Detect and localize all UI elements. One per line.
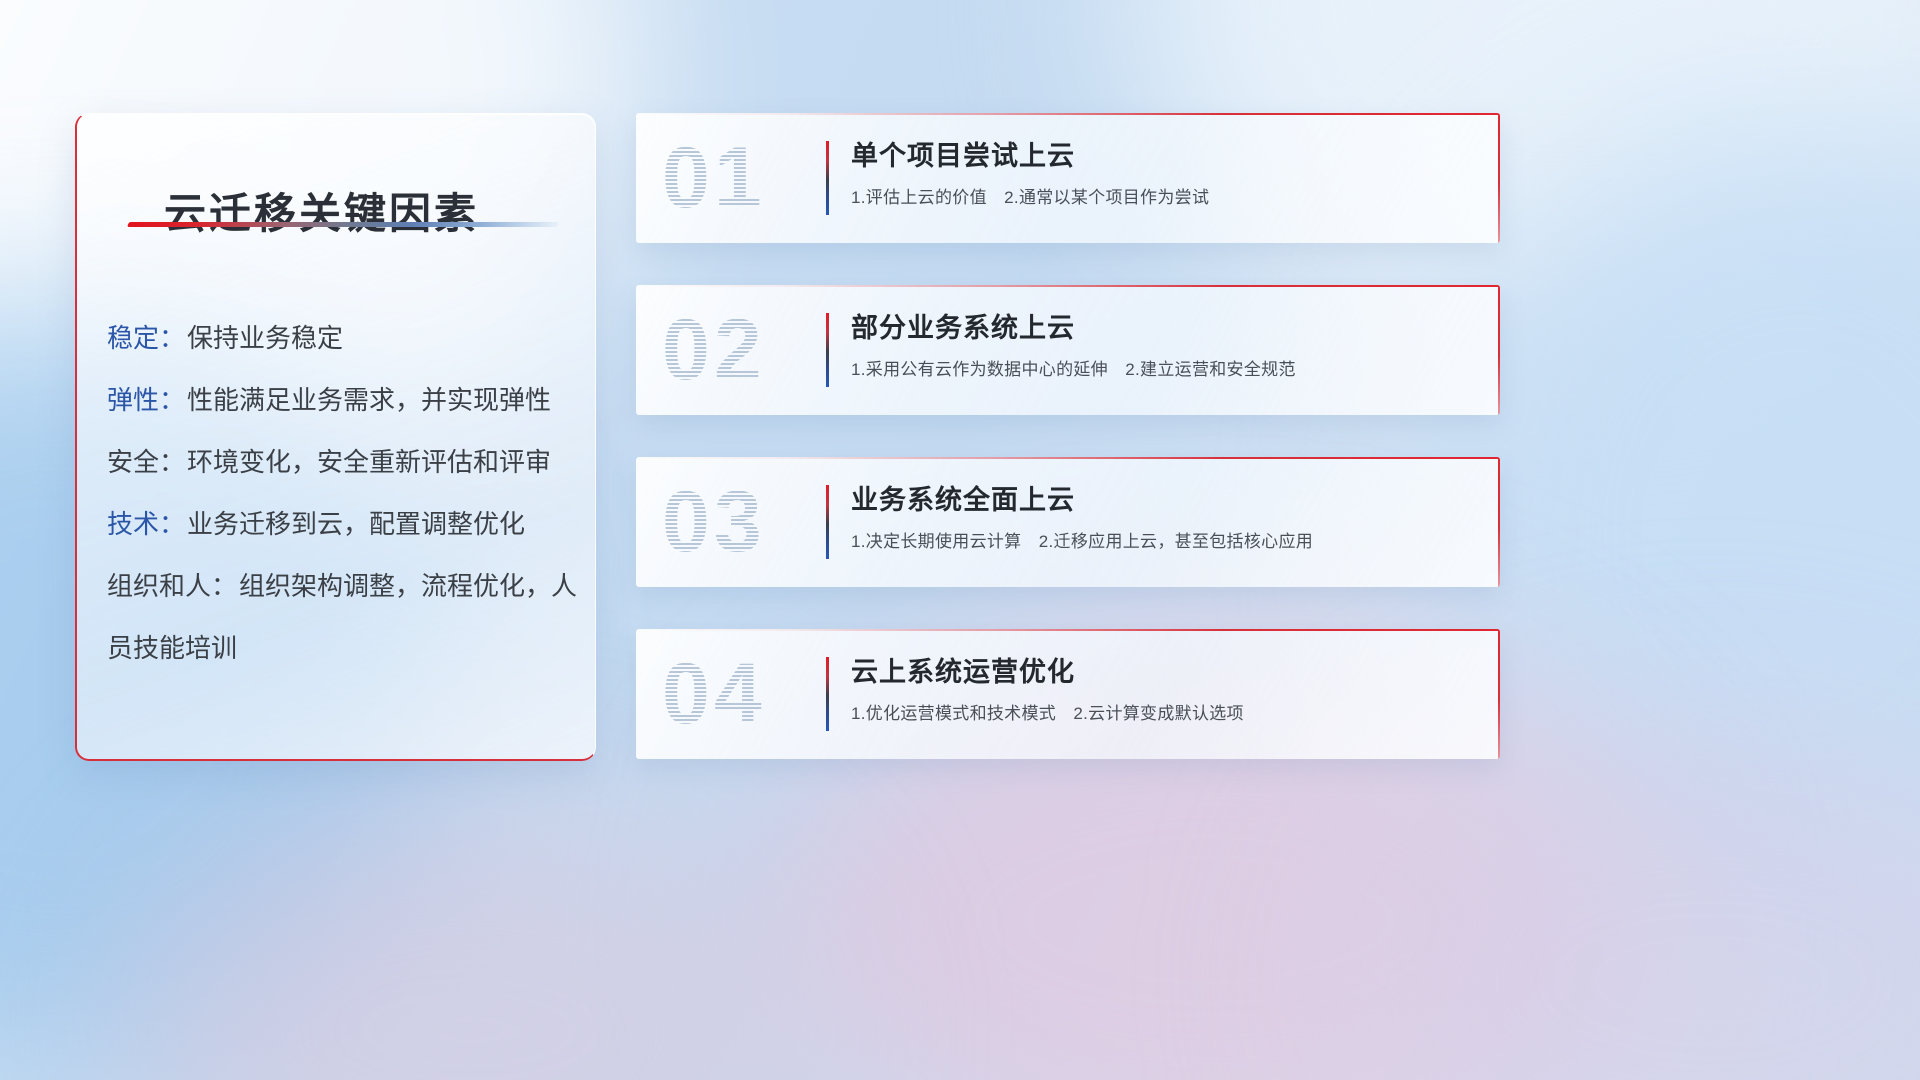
key-factors-list: 稳定：保持业务稳定弹性：性能满足业务需求，并实现弹性安全：环境变化，安全重新评估… — [107, 307, 581, 679]
key-factor-row: 弹性：性能满足业务需求，并实现弹性 — [107, 369, 581, 431]
step-title: 云上系统运营优化 — [851, 653, 1476, 691]
slide-canvas: 云迁移关键因素 稳定：保持业务稳定弹性：性能满足业务需求，并实现弹性安全：环境变… — [0, 0, 1920, 1080]
step-body: 云上系统运营优化1.优化运营模式和技术模式 2.云计算变成默认选项 — [851, 653, 1476, 726]
key-factor-label: 安全： — [107, 447, 185, 477]
key-factor-text: 环境变化，安全重新评估和评审 — [187, 447, 551, 477]
key-factor-label: 技术： — [107, 509, 185, 539]
step-card[interactable]: 04云上系统运营优化1.优化运营模式和技术模式 2.云计算变成默认选项 — [636, 629, 1500, 759]
step-number-watermark: 03 — [662, 479, 766, 565]
step-number-watermark: 02 — [662, 307, 766, 393]
key-factor-label: 组织和人： — [107, 571, 237, 601]
step-subtitle: 1.决定长期使用云计算 2.迁移应用上云，甚至包括核心应用 — [851, 530, 1476, 554]
step-number-watermark: 01 — [662, 135, 766, 221]
step-divider-bar — [826, 313, 829, 387]
step-divider-bar — [826, 485, 829, 559]
step-title: 单个项目尝试上云 — [851, 137, 1476, 175]
key-factors-panel: 云迁移关键因素 稳定：保持业务稳定弹性：性能满足业务需求，并实现弹性安全：环境变… — [75, 113, 596, 761]
page-title: 云迁移关键因素 — [164, 180, 479, 241]
step-card[interactable]: 02部分业务系统上云1.采用公有云作为数据中心的延伸 2.建立运营和安全规范 — [636, 285, 1500, 415]
step-body: 单个项目尝试上云1.评估上云的价值 2.通常以某个项目作为尝试 — [851, 137, 1476, 210]
key-factor-text: 保持业务稳定 — [187, 323, 343, 353]
step-subtitle: 1.优化运营模式和技术模式 2.云计算变成默认选项 — [851, 702, 1476, 726]
step-divider-bar — [826, 141, 829, 215]
step-subtitle: 1.采用公有云作为数据中心的延伸 2.建立运营和安全规范 — [851, 358, 1476, 382]
step-title: 业务系统全面上云 — [851, 481, 1476, 519]
background-glow-bottom-left — [120, 800, 820, 1080]
title-underline-rule — [127, 222, 559, 227]
key-factor-label: 稳定： — [107, 323, 185, 353]
step-number-watermark: 04 — [662, 651, 766, 737]
step-title: 部分业务系统上云 — [851, 309, 1476, 347]
key-factor-row: 稳定：保持业务稳定 — [107, 307, 581, 369]
key-factor-row: 组织和人：组织架构调整，流程优化，人员技能培训 — [107, 555, 581, 679]
key-factor-text: 业务迁移到云，配置调整优化 — [187, 509, 525, 539]
key-factor-label: 弹性： — [107, 385, 185, 415]
migration-steps-list: 01单个项目尝试上云1.评估上云的价值 2.通常以某个项目作为尝试02部分业务系… — [636, 113, 1500, 801]
step-divider-bar — [826, 657, 829, 731]
key-factor-row: 技术：业务迁移到云，配置调整优化 — [107, 493, 581, 555]
step-body: 部分业务系统上云1.采用公有云作为数据中心的延伸 2.建立运营和安全规范 — [851, 309, 1476, 382]
step-body: 业务系统全面上云1.决定长期使用云计算 2.迁移应用上云，甚至包括核心应用 — [851, 481, 1476, 554]
key-factor-row: 安全：环境变化，安全重新评估和评审 — [107, 431, 581, 493]
step-card[interactable]: 03业务系统全面上云1.决定长期使用云计算 2.迁移应用上云，甚至包括核心应用 — [636, 457, 1500, 587]
step-card[interactable]: 01单个项目尝试上云1.评估上云的价值 2.通常以某个项目作为尝试 — [636, 113, 1500, 243]
step-subtitle: 1.评估上云的价值 2.通常以某个项目作为尝试 — [851, 186, 1476, 210]
key-factor-text: 性能满足业务需求，并实现弹性 — [187, 385, 551, 415]
